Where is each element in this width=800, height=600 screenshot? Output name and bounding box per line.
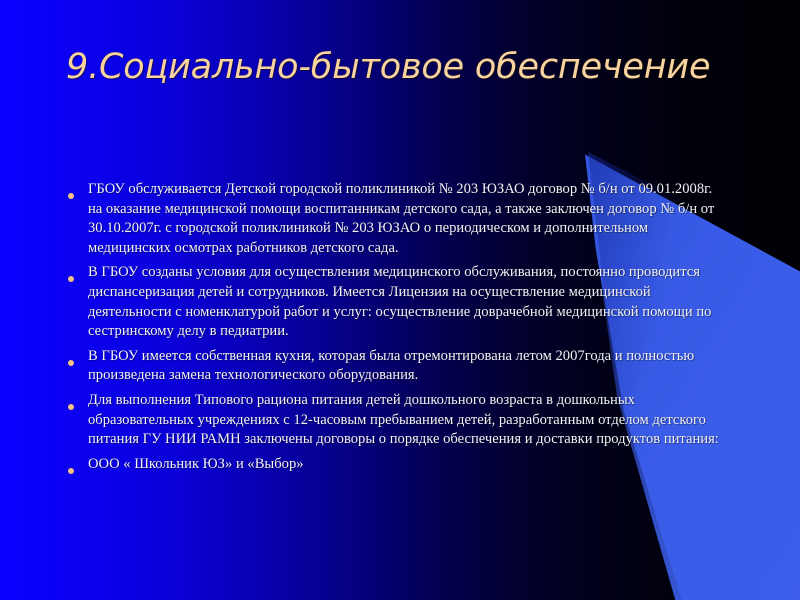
list-item: Для выполнения Типового рациона питания … xyxy=(68,391,728,450)
list-item-text: В ГБОУ имеется собственная кухня, котора… xyxy=(88,347,728,386)
list-item: ГБОУ обслуживается Детской городской пол… xyxy=(68,180,728,258)
list-item: В ГБОУ имеется собственная кухня, котора… xyxy=(68,347,728,386)
list-item: В ГБОУ созданы условия для осуществления… xyxy=(68,263,728,341)
list-item-text: ГБОУ обслуживается Детской городской пол… xyxy=(88,180,728,258)
bullet-dot-icon xyxy=(68,391,88,415)
list-item-text: В ГБОУ созданы условия для осуществления… xyxy=(88,263,728,341)
bullet-dot-icon xyxy=(68,347,88,371)
list-item-text: ООО « Школьник ЮЗ» и «Выбор» xyxy=(88,455,728,475)
slide-title: 9.Социально-бытовое обеспечение xyxy=(66,44,766,90)
slide-body-bullet-list: ГБОУ обслуживается Детской городской пол… xyxy=(68,180,728,484)
bullet-dot-icon xyxy=(68,455,88,479)
presentation-slide: 9.Социально-бытовое обеспечение ГБОУ обс… xyxy=(0,0,800,600)
list-item-text: Для выполнения Типового рациона питания … xyxy=(88,391,728,450)
bullet-dot-icon xyxy=(68,180,88,204)
bullet-dot-icon xyxy=(68,263,88,287)
list-item: ООО « Школьник ЮЗ» и «Выбор» xyxy=(68,455,728,479)
